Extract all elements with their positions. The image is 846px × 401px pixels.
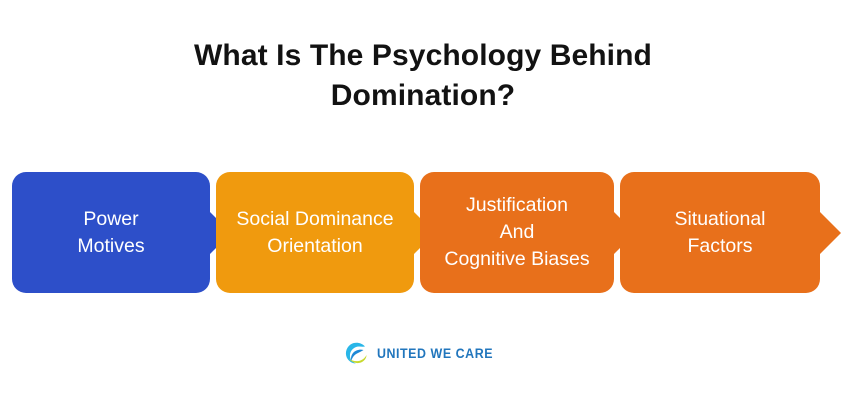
page-title-line-1: What Is The Psychology Behind: [0, 36, 846, 76]
process-step-label: Social Dominance Orientation: [226, 206, 403, 260]
process-step-label: Situational Factors: [664, 206, 775, 260]
page-title: What Is The Psychology Behind Domination…: [0, 36, 846, 116]
process-step-situational-factors[interactable]: Situational Factors: [620, 172, 820, 293]
brand-wordmark: UNITED WE CARE: [377, 346, 493, 361]
infographic-canvas: What Is The Psychology Behind Domination…: [0, 0, 846, 401]
process-step-power-motives[interactable]: Power Motives: [12, 172, 210, 293]
united-we-care-swoosh-icon: [343, 340, 369, 366]
process-step-label: Power Motives: [67, 206, 154, 260]
process-step-justification-and-cognitive-biases[interactable]: Justification And Cognitive Biases: [420, 172, 614, 293]
process-chevron-strip: Power Motives Social Dominance Orientati…: [0, 172, 846, 293]
brand-footer: UNITED WE CARE: [0, 340, 846, 366]
process-step-social-dominance-orientation[interactable]: Social Dominance Orientation: [216, 172, 414, 293]
page-title-line-2: Domination?: [0, 76, 846, 116]
process-step-label: Justification And Cognitive Biases: [434, 192, 599, 273]
chevron-arrow-icon: [820, 212, 841, 254]
